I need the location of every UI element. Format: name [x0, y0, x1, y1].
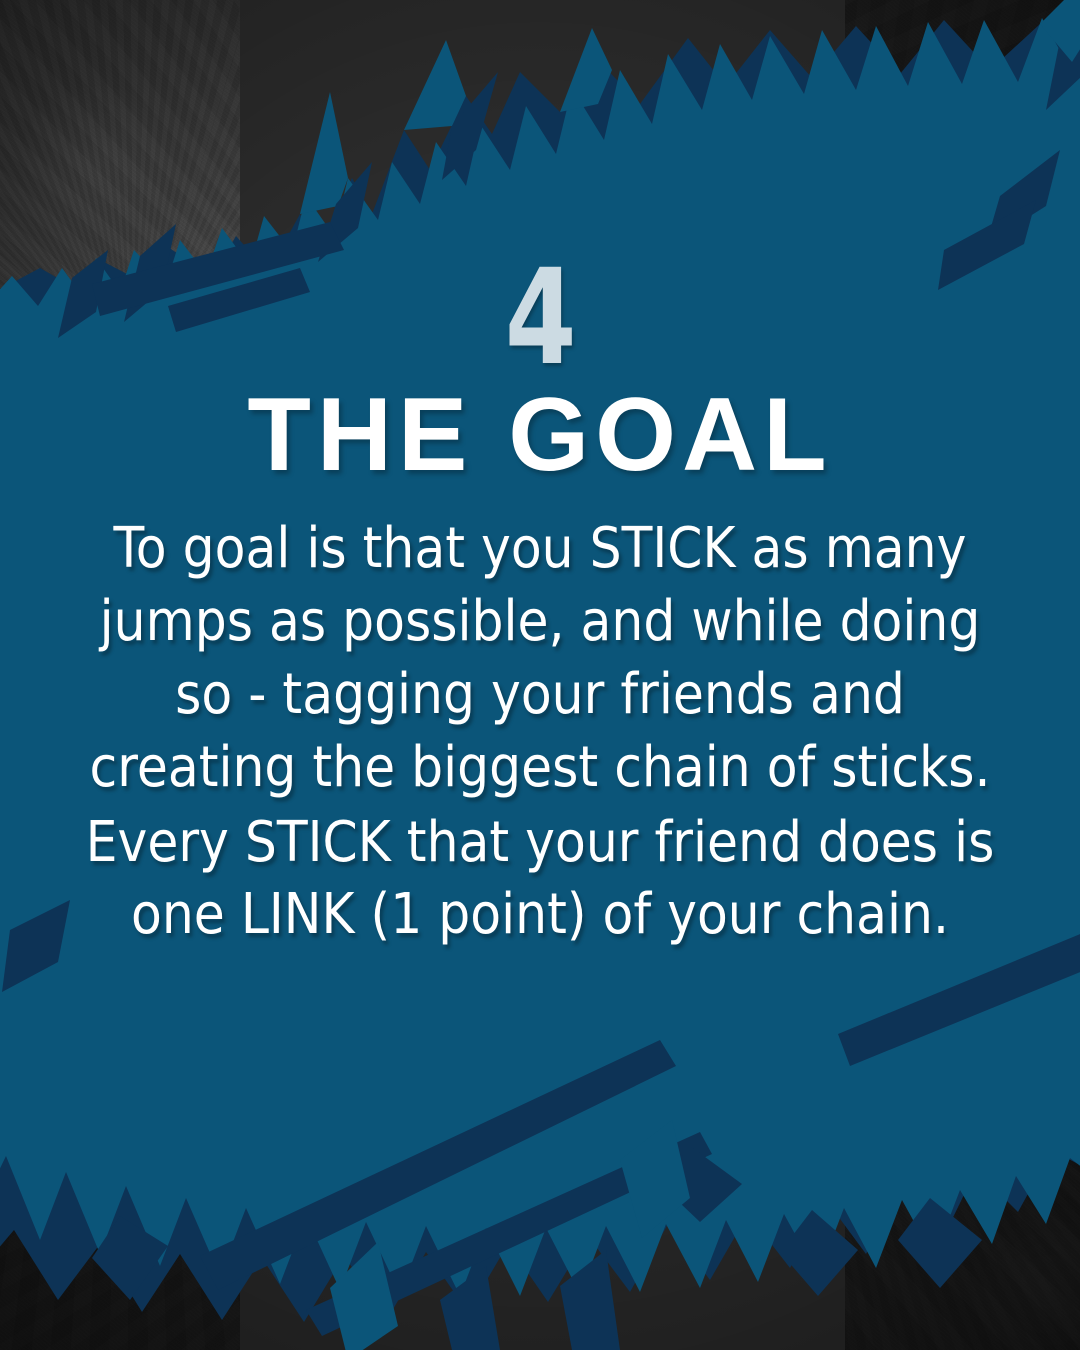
step-number: 4 [505, 258, 575, 379]
poster-content: 4 THE GOAL To goal is that you STICK as … [0, 0, 1080, 1350]
body-copy: To goal is that you STICK as many jumps … [86, 513, 995, 952]
page-title: THE GOAL [247, 383, 832, 487]
body-paragraph-1: To goal is that you STICK as many jumps … [86, 513, 995, 804]
body-paragraph-2: Every STICK that your friend does is one… [86, 807, 995, 953]
poster-canvas: 4 THE GOAL To goal is that you STICK as … [0, 0, 1080, 1350]
